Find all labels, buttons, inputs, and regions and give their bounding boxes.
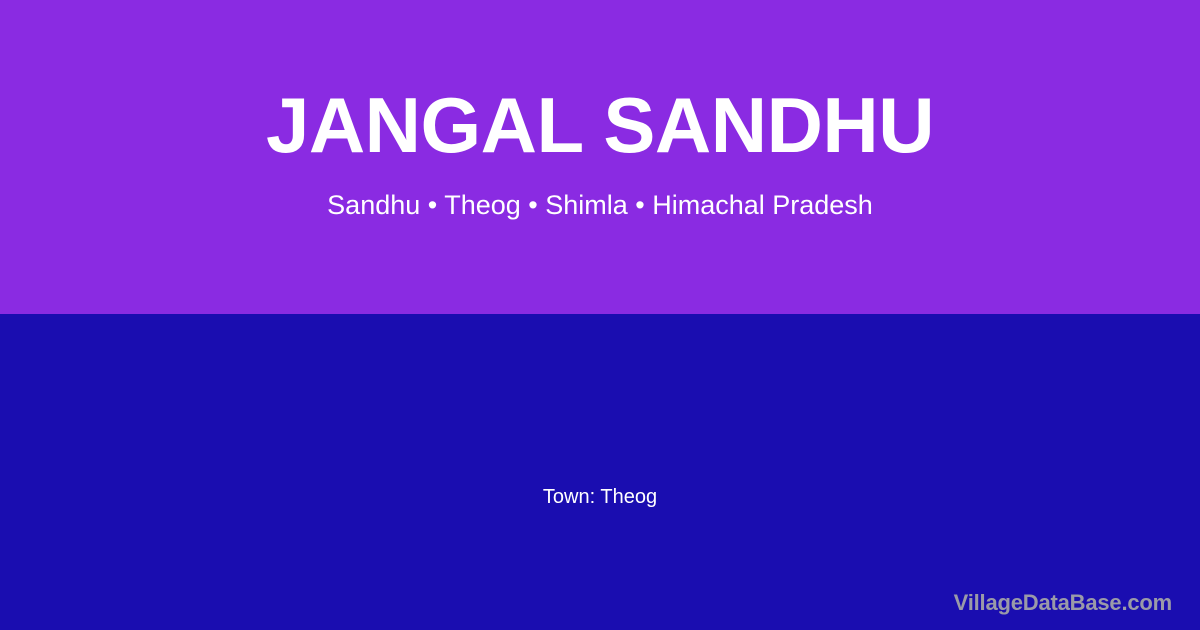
village-info-card: JANGAL SANDHU Sandhu • Theog • Shimla • … — [0, 0, 1200, 630]
town-detail: Town: Theog — [0, 485, 1200, 509]
hero-banner: JANGAL SANDHU Sandhu • Theog • Shimla • … — [0, 0, 1200, 314]
site-watermark: VillageDataBase.com — [954, 590, 1172, 616]
details-panel: Town: Theog VillageDataBase.com — [0, 314, 1200, 630]
page-title: JANGAL SANDHU — [266, 86, 934, 164]
breadcrumb: Sandhu • Theog • Shimla • Himachal Prade… — [327, 190, 873, 221]
